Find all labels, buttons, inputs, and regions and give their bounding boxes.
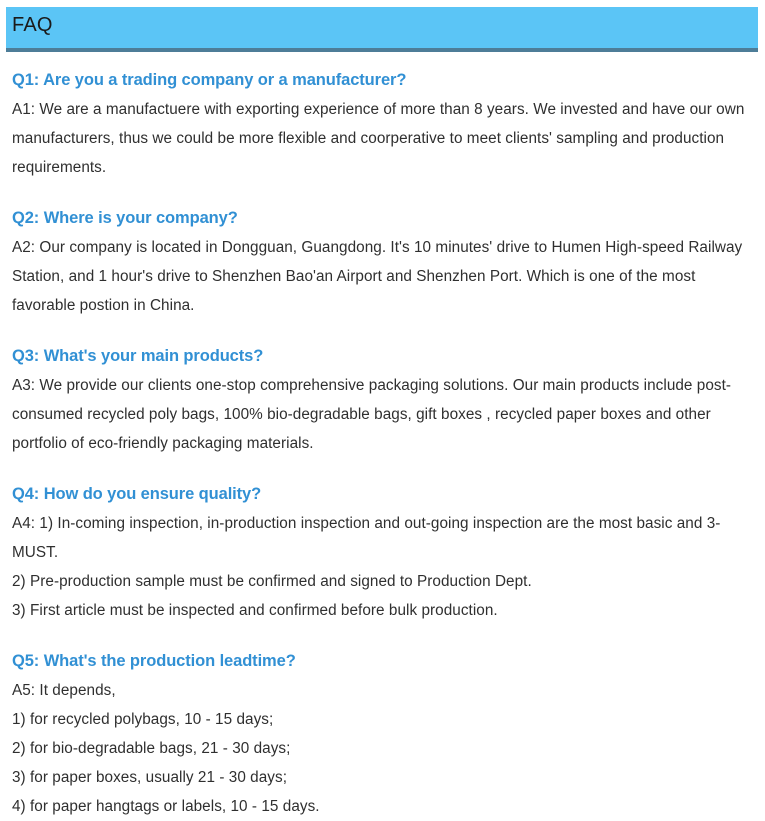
faq-item: Q3: What's your main products? A3: We pr… xyxy=(12,342,753,458)
faq-question: Q4: How do you ensure quality? xyxy=(12,480,753,509)
faq-answer-line: A5: It depends, xyxy=(12,676,753,705)
faq-answer: A5: It depends, 1) for recycled polybags… xyxy=(12,676,753,821)
faq-answer: A3: We provide our clients one-stop comp… xyxy=(12,371,753,458)
faq-answer-line: A1: We are a manufactuere with exporting… xyxy=(12,95,753,182)
faq-question: Q2: Where is your company? xyxy=(12,204,753,233)
faq-item: Q2: Where is your company? A2: Our compa… xyxy=(12,204,753,320)
faq-answer-line: 4) for paper hangtags or labels, 10 - 15… xyxy=(12,792,753,821)
faq-answer-line: 2) Pre-production sample must be confirm… xyxy=(12,567,753,596)
faq-answer: A2: Our company is located in Dongguan, … xyxy=(12,233,753,320)
faq-answer-line: A3: We provide our clients one-stop comp… xyxy=(12,371,753,458)
faq-answer-line: 1) for recycled polybags, 10 - 15 days; xyxy=(12,705,753,734)
page-title: FAQ xyxy=(12,15,53,35)
faq-answer-line: A2: Our company is located in Dongguan, … xyxy=(12,233,753,320)
faq-question: Q1: Are you a trading company or a manuf… xyxy=(12,66,753,95)
faq-answer-line: 3) First article must be inspected and c… xyxy=(12,596,753,625)
faq-item: Q1: Are you a trading company or a manuf… xyxy=(12,66,753,182)
faq-answer-line: A4: 1) In-coming inspection, in-producti… xyxy=(12,509,753,567)
faq-item: Q5: What's the production leadtime? A5: … xyxy=(12,647,753,821)
faq-answer-line: 2) for bio-degradable bags, 21 - 30 days… xyxy=(12,734,753,763)
faq-answer-line: 3) for paper boxes, usually 21 - 30 days… xyxy=(12,763,753,792)
faq-item: Q4: How do you ensure quality? A4: 1) In… xyxy=(12,480,753,625)
faq-question: Q3: What's your main products? xyxy=(12,342,753,371)
faq-list: Q1: Are you a trading company or a manuf… xyxy=(12,66,753,821)
faq-header-bar: FAQ xyxy=(6,7,758,52)
faq-answer: A4: 1) In-coming inspection, in-producti… xyxy=(12,509,753,625)
faq-question: Q5: What's the production leadtime? xyxy=(12,647,753,676)
faq-answer: A1: We are a manufactuere with exporting… xyxy=(12,95,753,182)
